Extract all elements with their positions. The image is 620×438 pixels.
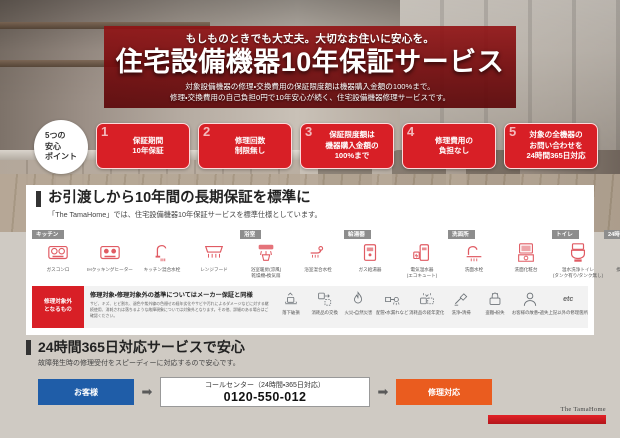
warranty-panel: お引渡しから10年間の長期保証を標準に 「The TamaHome」では、住宅設… (26, 185, 594, 335)
flow-arrow-icon: ➡ (370, 384, 396, 400)
aging-icon (417, 290, 437, 308)
bath-faucet-icon (305, 241, 331, 265)
exclusion-item: 落下破損 (274, 290, 308, 316)
exclusions-text-block: 修理対象・修理対象外の基準についてはメーカー保証と同様 サビ、キズ、ヒビ割れ、退… (84, 286, 274, 328)
equipment-item-label: ガスコンロ (47, 267, 70, 273)
warranty-description: 「The TamaHome」では、住宅設備機器10年保証サービスを標準仕様として… (36, 207, 594, 220)
point-number-3: 3 (305, 125, 312, 138)
support-description: 故障発生時の修理受付をスピーディーに対応するので安心です。 (26, 358, 594, 368)
toilet-icon (565, 241, 591, 265)
bathroom-dryer-icon (253, 241, 279, 265)
call-center-label: コールセンター（24時間・365日対応） (205, 380, 325, 390)
point-label-5: 対象の全機器のお問い合わせを24時間365日対応 (526, 130, 585, 161)
flow-customer-box: お客様 (38, 379, 134, 405)
equipment-item: 電気温水器(エコキュート) (396, 241, 448, 278)
five-points-badge: 5つの安心ポイント (34, 120, 88, 174)
equipment-strip: キッチンガスコンロIHクッキングヒーターキッチン混合水栓レンジフード浴室浴室暖房… (32, 230, 588, 282)
equipment-group-label: 浴室 (240, 230, 261, 239)
exclusion-item-label: お客様の故意・過失 (512, 310, 549, 316)
exclusion-item-label: 消耗品の交換 (311, 310, 337, 316)
equipment-group-label: 洗面所 (448, 230, 475, 239)
flow-repair-box: 修理対応 (396, 379, 492, 405)
flow-arrow-icon: ➡ (134, 384, 160, 400)
equipment-group-6: 24時間換気システム(熱交換)換気システム (604, 230, 620, 282)
equipment-item: 浴室混合水栓 (292, 241, 344, 278)
etc-icon: etc (558, 290, 578, 308)
equipment-item-label: 浴室暖房(涼風)乾燥機・換気扇 (251, 267, 282, 278)
equipment-item-label: 温水洗浄トイレ(タンク有り/タンク無し) (553, 267, 603, 278)
warranty-heading-block: お引渡しから10年間の長期保証を標準に 「The TamaHome」では、住宅設… (26, 185, 594, 220)
equipment-group-label: 給湯器 (344, 230, 371, 239)
exclusion-item: 消耗品の交換 (308, 290, 342, 316)
exclusion-item: 配管・水漏れなど (375, 290, 409, 316)
equipment-item: IHクッキングヒーター (84, 241, 136, 273)
equipment-group-3: 給湯器ガス給湯器電気温水器(エコキュート) (344, 230, 448, 282)
exclusion-item-label: 洗浄・清掃 (452, 310, 471, 316)
point-box-3: 3 保証限度額は機器購入金額の100%まで (300, 123, 394, 169)
five-points-row: 5つの安心ポイント 1 保証期間10年保証 2 修理回数制限無し 3 保証限度額… (0, 118, 620, 180)
kitchen-faucet-icon (149, 241, 175, 265)
support-flow: お客様 ➡ コールセンター（24時間・365日対応） 0120-550-012 … (26, 377, 594, 407)
exclusions-tag: 修理対象外となるもの (32, 286, 84, 328)
point-box-4: 4 修理費用の負担なし (402, 123, 496, 169)
exclusion-item-label: 盗難・紛失 (485, 310, 504, 316)
pipe-leak-icon (382, 290, 402, 308)
exclusions-body: サビ、キズ、ヒビ割れ、退色や紫外線の色褪せの経年劣化やサビや汚れによるダメージな… (90, 301, 269, 319)
equipment-item: ガスコンロ (32, 241, 84, 273)
point-label-1: 保証期間10年保証 (132, 136, 163, 157)
exclusion-item-label: 消耗品の経年変化 (409, 310, 444, 316)
consumable-parts-icon (315, 290, 335, 308)
electric-water-heater-icon (409, 241, 435, 265)
equipment-group-1: キッチンガスコンロIHクッキングヒーターキッチン混合水栓レンジフード (32, 230, 240, 282)
equipment-item-label: ガス給湯器 (359, 267, 382, 273)
call-center-phone: 0120-550-012 (224, 390, 307, 404)
equipment-group-5: トイレ温水洗浄トイレ(タンク有り/タンク無し) (552, 230, 604, 282)
equipment-item-label: IHクッキングヒーター (87, 267, 133, 273)
equipment-group-4: 洗面所洗面水栓洗面化粧台 (448, 230, 552, 282)
exclusion-item: 消耗品の経年変化 (409, 290, 444, 316)
warranty-title: お引渡しから10年間の長期保証を標準に (36, 191, 594, 207)
point-number-1: 1 (101, 125, 108, 138)
hero-subtext-line2: 修理・交換費用の自己負担0円で10年安心が続く、住宅設備機器修理サービスです。 (104, 92, 516, 103)
point-label-3: 保証限度額は機器購入金額の100%まで (325, 130, 378, 161)
exclusion-item: お客様の故意・過失 (512, 290, 549, 316)
flow-call-center-box: コールセンター（24時間・365日対応） 0120-550-012 (160, 377, 370, 407)
equipment-item: キッチン混合水栓 (136, 241, 188, 273)
fire-disaster-icon (348, 290, 368, 308)
washbasin-faucet-icon (461, 241, 487, 265)
equipment-item-label: 電気温水器(エコキュート) (407, 267, 438, 278)
equipment-group-label: トイレ (552, 230, 579, 239)
equipment-item-label: 浴室混合水栓 (304, 267, 332, 273)
exclusion-item-label: 火災・自然災害 (345, 310, 373, 316)
gas-stove-icon (45, 241, 71, 265)
point-box-5: 5 対象の全機器のお問い合わせを24時間365日対応 (504, 123, 598, 169)
exclusion-item: 火災・自然災害 (342, 290, 376, 316)
ih-cooktop-icon (97, 241, 123, 265)
hero-subtext-line1: 対象設備機器の修理・交換費用の保証限度額は機器購入金額の100%まで。 (104, 81, 516, 92)
hero-lead-text: もしものときでも大丈夫。大切なお住いに安心を。 (104, 31, 516, 46)
range-hood-icon (201, 241, 227, 265)
equipment-item-label: 洗面水栓 (465, 267, 483, 273)
falling-damage-icon (281, 290, 301, 308)
exclusion-item-label: 配管・水漏れなど (376, 310, 408, 316)
theft-loss-icon (485, 290, 505, 308)
brand-logo-text: The TamaHome (488, 406, 606, 413)
cleaning-icon (451, 290, 471, 308)
exclusion-item: 盗難・紛失 (478, 290, 512, 316)
exclusion-item-label: 落下破損 (282, 310, 300, 316)
equipment-item-label: レンジフード (200, 267, 228, 273)
footer-logo: The TamaHome (488, 406, 606, 424)
point-number-4: 4 (407, 125, 414, 138)
equipment-item-label: 洗面化粧台 (515, 267, 538, 273)
equipment-group-label: キッチン (32, 230, 64, 239)
point-number-5: 5 (509, 125, 516, 138)
equipment-item: 温水洗浄トイレ(タンク有り/タンク無し) (552, 241, 604, 278)
hero-title: 住宅設備機器10年保証サービス (104, 47, 516, 77)
equipment-item: 浴室暖房(涼風)乾燥機・換気扇 (240, 241, 292, 278)
equipment-item: 換気システム (604, 241, 620, 273)
equipment-group-2: 浴室浴室暖房(涼風)乾燥機・換気扇浴室混合水栓 (240, 230, 344, 282)
advertisement-page: もしものときでも大丈夫。大切なお住いに安心を。 住宅設備機器10年保証サービス … (0, 0, 620, 438)
hero-banner: もしものときでも大丈夫。大切なお住いに安心を。 住宅設備機器10年保証サービス … (104, 26, 516, 108)
equipment-item: ガス給湯器 (344, 241, 396, 278)
customer-fault-icon (520, 290, 540, 308)
exclusions-heading: 修理対象・修理対象外の基準についてはメーカー保証と同様 (90, 290, 269, 299)
vanity-icon (513, 241, 539, 265)
exclusions-icon-row: 落下破損消耗品の交換火災・自然災害配管・水漏れなど消耗品の経年変化洗浄・清掃盗難… (274, 286, 588, 328)
equipment-item: レンジフード (188, 241, 240, 273)
brand-logo-bar (488, 415, 606, 424)
point-label-2: 修理回数制限無し (235, 136, 265, 157)
equipment-item: 洗面化粧台 (500, 241, 552, 273)
exclusion-item-label: 上記以外の修理箇所 (548, 310, 588, 316)
equipment-item-label: 換気システム (616, 267, 620, 273)
equipment-group-label: 24時間換気システム(熱交換) (604, 230, 620, 239)
support-title: 24時間365日対応サービスで安心 (26, 340, 594, 355)
point-box-1: 1 保証期間10年保証 (96, 123, 190, 169)
point-box-2: 2 修理回数制限無し (198, 123, 292, 169)
support-block: 24時間365日対応サービスで安心 故障発生時の修理受付をスピーディーに対応する… (26, 340, 594, 412)
five-points-badge-label: 5つの安心ポイント (45, 131, 77, 163)
point-number-2: 2 (203, 125, 210, 138)
point-label-4: 修理費用の負担なし (435, 136, 473, 157)
equipment-item-label: キッチン混合水栓 (144, 267, 181, 273)
gas-water-heater-icon (357, 241, 383, 265)
exclusion-item: 洗浄・清掃 (444, 290, 478, 316)
exclusions-strip: 修理対象外となるもの 修理対象・修理対象外の基準についてはメーカー保証と同様 サ… (32, 286, 588, 328)
equipment-item: 洗面水栓 (448, 241, 500, 273)
exclusion-item: etc上記以外の修理箇所 (548, 290, 588, 316)
